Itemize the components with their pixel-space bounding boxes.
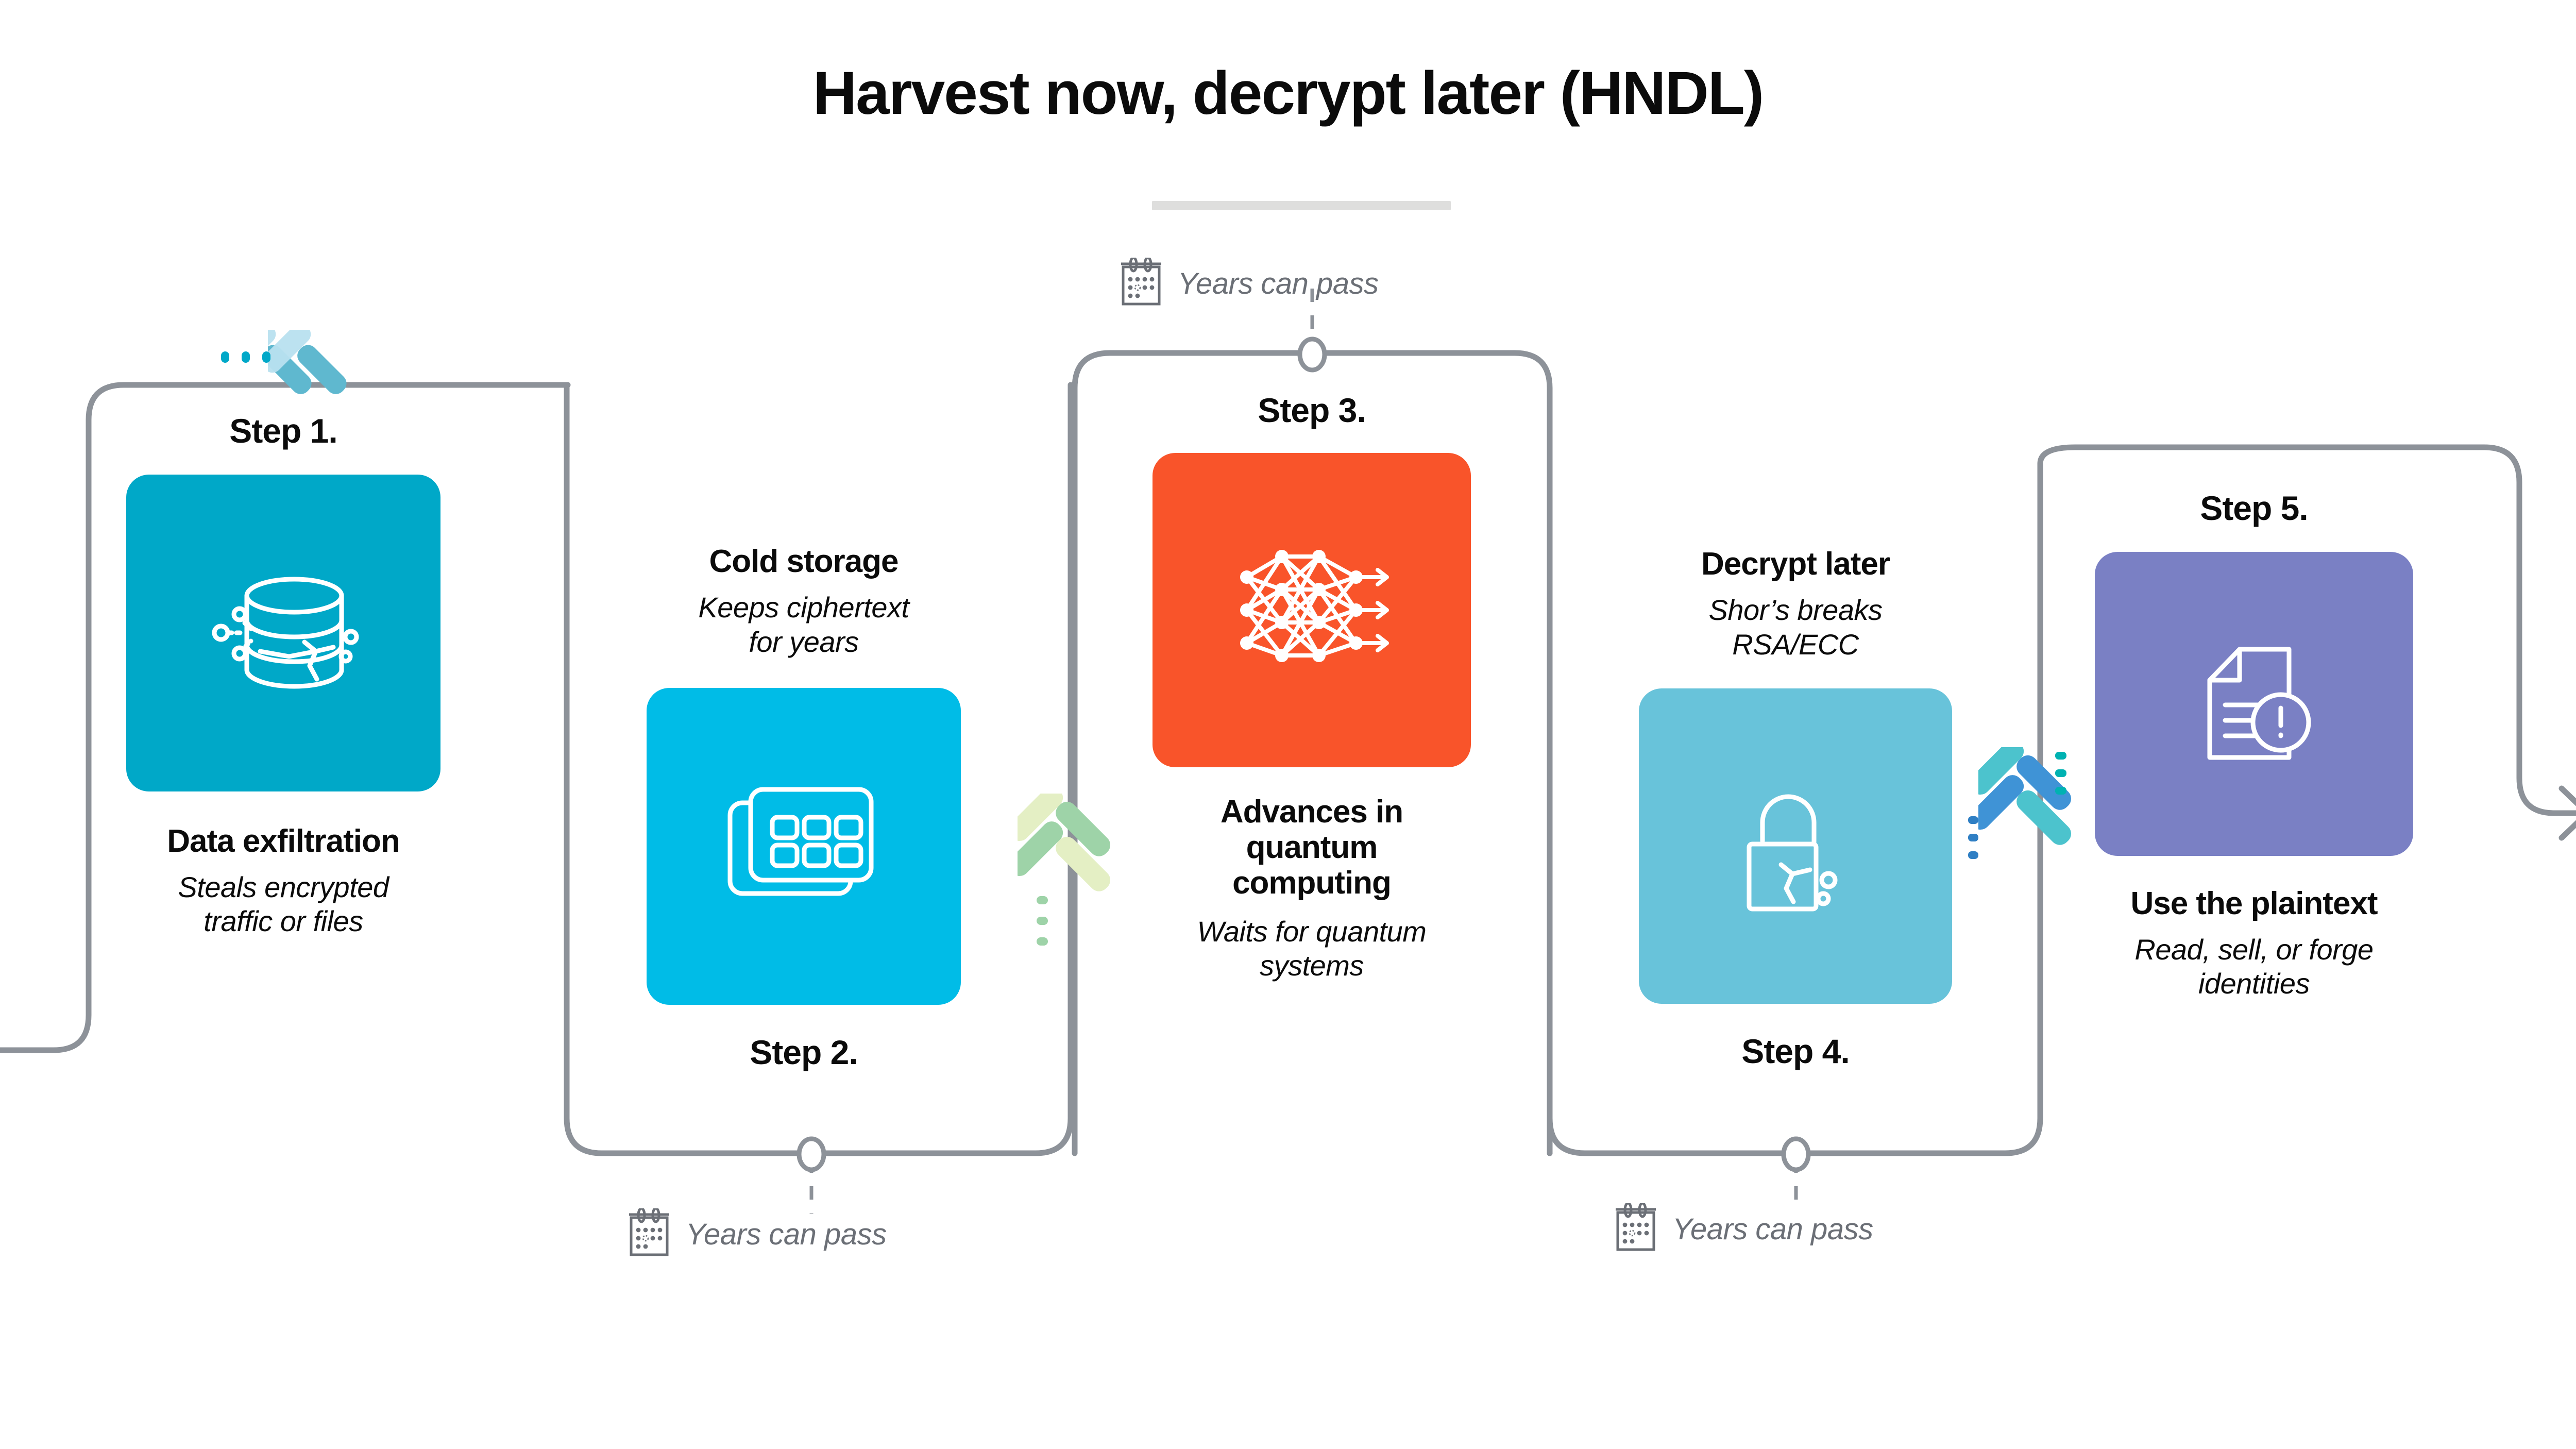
broken-padlock-icon <box>1718 769 1873 923</box>
step-3-number: Step 3. <box>1106 392 1518 429</box>
diagram-canvas: Harvest now, decrypt later (HNDL) <box>0 0 2576 1449</box>
timeline-node-top <box>1300 339 1325 370</box>
step-5-title: Use the plaintext <box>2050 886 2458 921</box>
step-4-subtitle-line2: RSA/ECC <box>1592 628 1999 662</box>
flow-arrow-icon <box>2562 788 2576 838</box>
step-1-title: Data exfiltration <box>88 823 479 859</box>
step-3-title-line2: quantum <box>1106 830 1518 865</box>
step-4-card <box>1639 688 1952 1004</box>
step-5-subtitle-line1: Read, sell, or forge <box>2050 933 2458 967</box>
chevron-dots-green-icon <box>1032 894 1053 956</box>
step-1-number: Step 1. <box>88 412 479 450</box>
step-5-number: Step 5. <box>2050 490 2458 527</box>
chevron-dots-teal-icon <box>219 345 281 366</box>
document-alert-icon <box>2172 627 2336 781</box>
timeline-node-step2 <box>799 1139 824 1170</box>
step-2-subtitle-line1: Keeps ciphertext <box>598 591 1010 625</box>
stacked-cards-grid-icon <box>719 769 889 923</box>
step-3-title-line1: Advances in <box>1106 794 1518 830</box>
step-3: Step 3. <box>1106 392 1518 983</box>
step-5: Step 5. Use the plaintext Read, sell, or… <box>2050 490 2458 1001</box>
step-4-title: Decrypt later <box>1592 546 1999 582</box>
note-top: Years can pass <box>1118 258 1379 309</box>
step-1: Step 1. <box>88 412 479 938</box>
step-4: Decrypt later Shor’s breaks RSA/ECC Step… <box>1592 546 1999 1070</box>
step-2: Cold storage Keeps ciphertext for years … <box>598 544 1010 1071</box>
step-2-card <box>647 688 961 1005</box>
title-divider <box>1152 201 1451 210</box>
timeline-node-step4 <box>1784 1139 1808 1170</box>
cracked-database-icon <box>198 555 368 710</box>
step-2-number: Step 2. <box>598 1034 1010 1071</box>
step-3-subtitle-line1: Waits for quantum <box>1106 915 1518 949</box>
double-chevron-right-icon <box>268 330 386 423</box>
step-4-subtitle-line1: Shor’s breaks <box>1592 593 1999 627</box>
double-chevron-up-green-icon <box>1018 794 1121 897</box>
page-title: Harvest now, decrypt later (HNDL) <box>0 62 2576 126</box>
step-1-subtitle-line1: Steals encrypted <box>88 870 479 904</box>
step-5-subtitle-line2: identities <box>2050 967 2458 1001</box>
step-3-title-line3: computing <box>1106 865 1518 901</box>
step-3-card <box>1153 453 1471 767</box>
step-2-subtitle-line2: for years <box>598 625 1010 659</box>
note-top-label: Years can pass <box>1178 266 1379 301</box>
step-1-card <box>126 475 440 791</box>
calendar-icon <box>1613 1203 1659 1255</box>
calendar-icon <box>626 1208 672 1260</box>
step-1-subtitle-line2: traffic or files <box>88 904 479 938</box>
step-5-card <box>2095 552 2413 856</box>
step-4-number: Step 4. <box>1592 1033 1999 1070</box>
note-step4: Years can pass <box>1613 1203 1873 1255</box>
note-step2-label: Years can pass <box>686 1217 887 1252</box>
neural-network-icon <box>1224 533 1399 687</box>
step-3-subtitle-line2: systems <box>1106 949 1518 983</box>
note-step4-label: Years can pass <box>1672 1212 1873 1246</box>
note-step2: Years can pass <box>626 1208 887 1260</box>
step-2-title: Cold storage <box>598 544 1010 579</box>
calendar-icon <box>1118 258 1164 309</box>
